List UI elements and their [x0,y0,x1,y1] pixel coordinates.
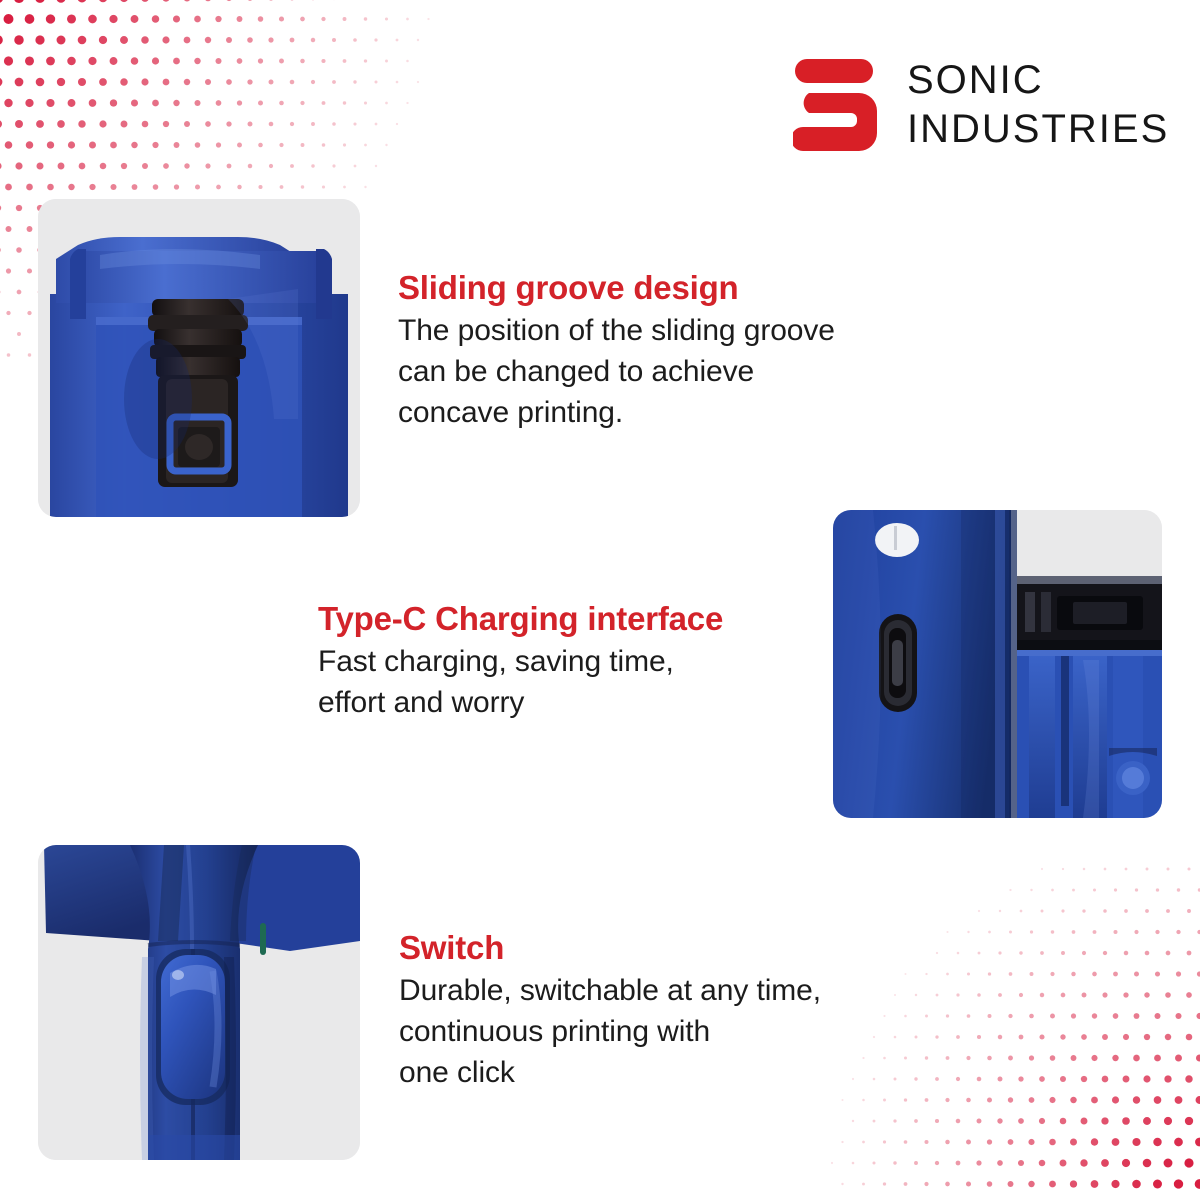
halftone-dots-bottom-right [786,865,1200,1199]
feature-body-line: one click [399,1053,821,1094]
brand-wordmark: SONIC INDUSTRIES [907,56,1169,154]
brand-line-1: SONIC [907,56,1169,105]
feature-body: Durable, switchable at any time, continu… [399,971,821,1093]
feature-switch: Switch Durable, switchable at any time, … [399,930,821,1093]
brand-logo: SONIC INDUSTRIES [793,55,1169,155]
sonic-s-mark-icon [793,55,881,155]
feature-body-line: continuous printing with [399,1012,821,1053]
feature-body-line: The position of the sliding groove [398,311,835,352]
promo-page: SONIC INDUSTRIES [0,0,1200,1199]
feature-type-c-charging: Type-C Charging interface Fast charging,… [318,601,723,724]
feature-title: Sliding groove design [398,270,835,307]
feature-body-line: effort and worry [318,683,723,724]
brand-line-2: INDUSTRIES [907,105,1169,154]
feature-body-line: concave printing. [398,393,835,434]
feature-title: Type-C Charging interface [318,601,723,638]
feature-body-line: Fast charging, saving time, [318,642,723,683]
switch-photo [38,845,360,1160]
sliding-groove-photo [38,199,360,517]
feature-title: Switch [399,930,821,967]
feature-body: Fast charging, saving time, effort and w… [318,642,723,724]
feature-body: The position of the sliding groove can b… [398,311,835,433]
feature-sliding-groove: Sliding groove design The position of th… [398,270,835,433]
feature-body-line: Durable, switchable at any time, [399,971,821,1012]
feature-body-line: can be changed to achieve [398,352,835,393]
type-c-port-photo [833,510,1162,818]
